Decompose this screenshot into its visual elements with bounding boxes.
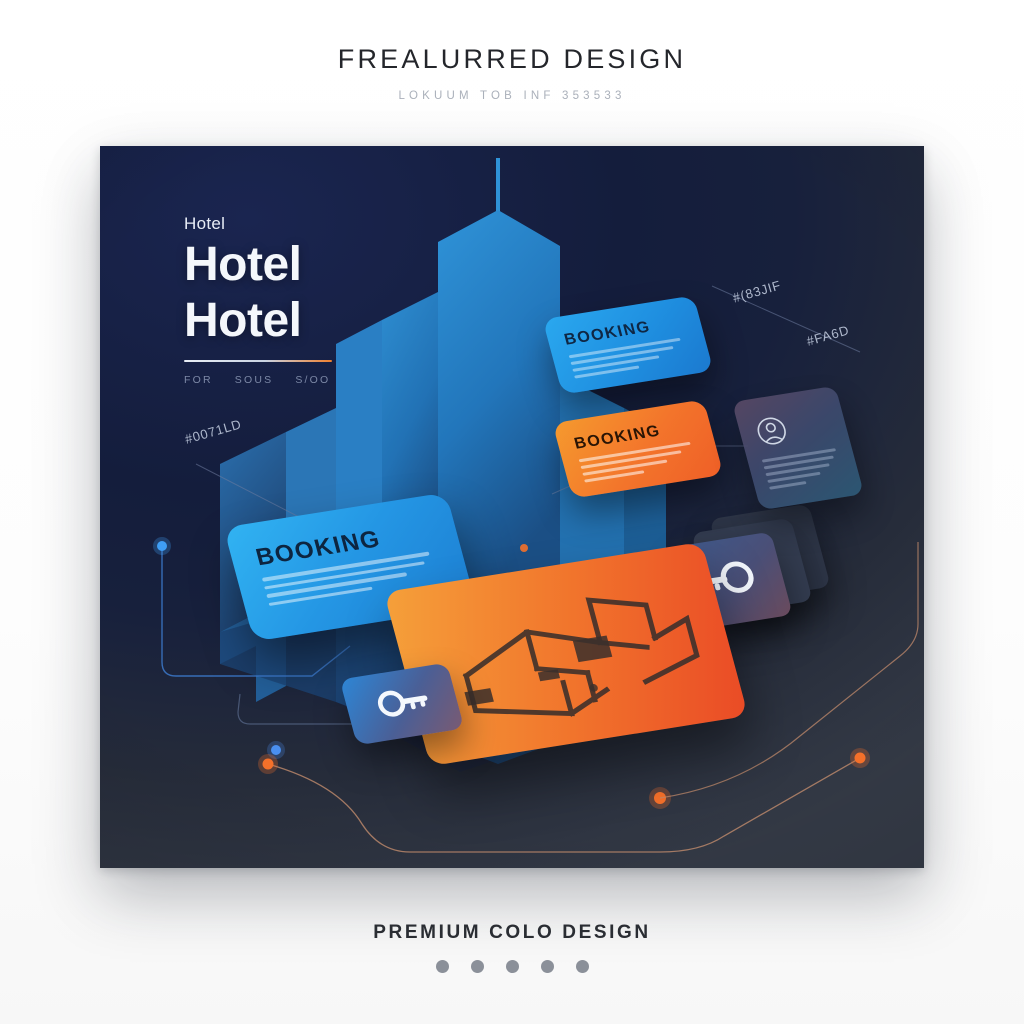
brand-meta-0: FOR xyxy=(184,374,213,386)
poster-page: FREALURRED DESIGN LOKUUM TOB INF 353533 xyxy=(0,0,1024,1024)
pagination-dot-2[interactable] xyxy=(471,960,484,973)
brand-meta-1: SOUS xyxy=(235,374,274,386)
brand-block: Hotel Hotel Hotel FOR SOUS S/OO xyxy=(184,214,444,386)
brand-title-line2: Hotel xyxy=(184,296,444,346)
pagination-dot-4[interactable] xyxy=(541,960,554,973)
card-body-lines xyxy=(762,448,844,490)
brand-divider xyxy=(184,360,332,362)
brand-meta-2: S/OO xyxy=(295,374,330,386)
footer-title: PREMIUM COLO DESIGN xyxy=(0,922,1024,944)
user-circle-icon xyxy=(750,412,793,450)
brand-title-line1: Hotel xyxy=(184,240,444,290)
poster-artboard: Hotel Hotel Hotel FOR SOUS S/OO #0071LD … xyxy=(100,146,924,868)
brand-kicker: Hotel xyxy=(184,214,444,234)
page-footer: PREMIUM COLO DESIGN xyxy=(0,922,1024,973)
node-orange-accent xyxy=(520,544,528,552)
page-subtitle: LOKUUM TOB INF 353533 xyxy=(0,90,1024,102)
brand-meta: FOR SOUS S/OO xyxy=(184,374,444,386)
pagination-dot-1[interactable] xyxy=(436,960,449,973)
pagination-dot-3[interactable] xyxy=(506,960,519,973)
pagination-dots[interactable] xyxy=(0,960,1024,973)
page-title: FREALURRED DESIGN xyxy=(0,44,1024,75)
pagination-dot-5[interactable] xyxy=(576,960,589,973)
page-header: FREALURRED DESIGN LOKUUM TOB INF 353533 xyxy=(0,44,1024,102)
